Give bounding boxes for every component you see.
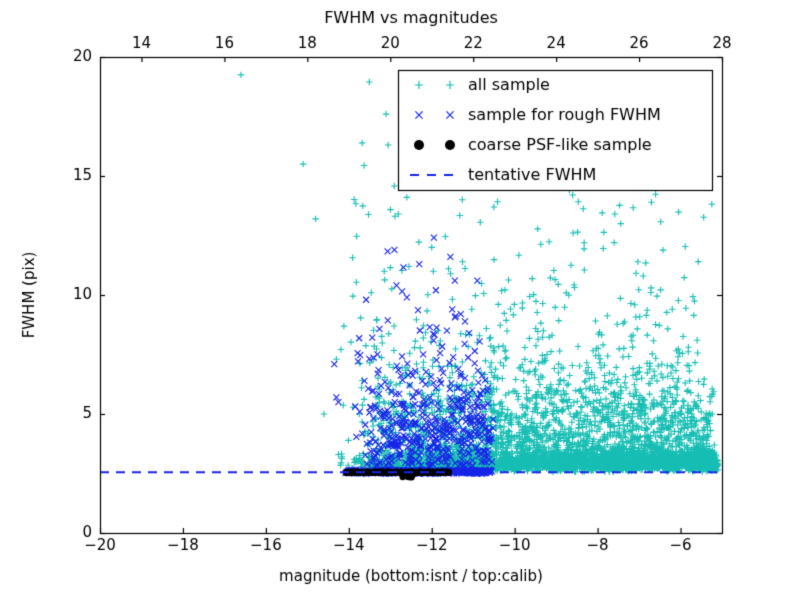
fwhm-vs-magnitude-scatter-plot	[0, 0, 800, 600]
figure-root: FWHM vs magnitudes magnitude (bottom:isn…	[0, 0, 800, 600]
